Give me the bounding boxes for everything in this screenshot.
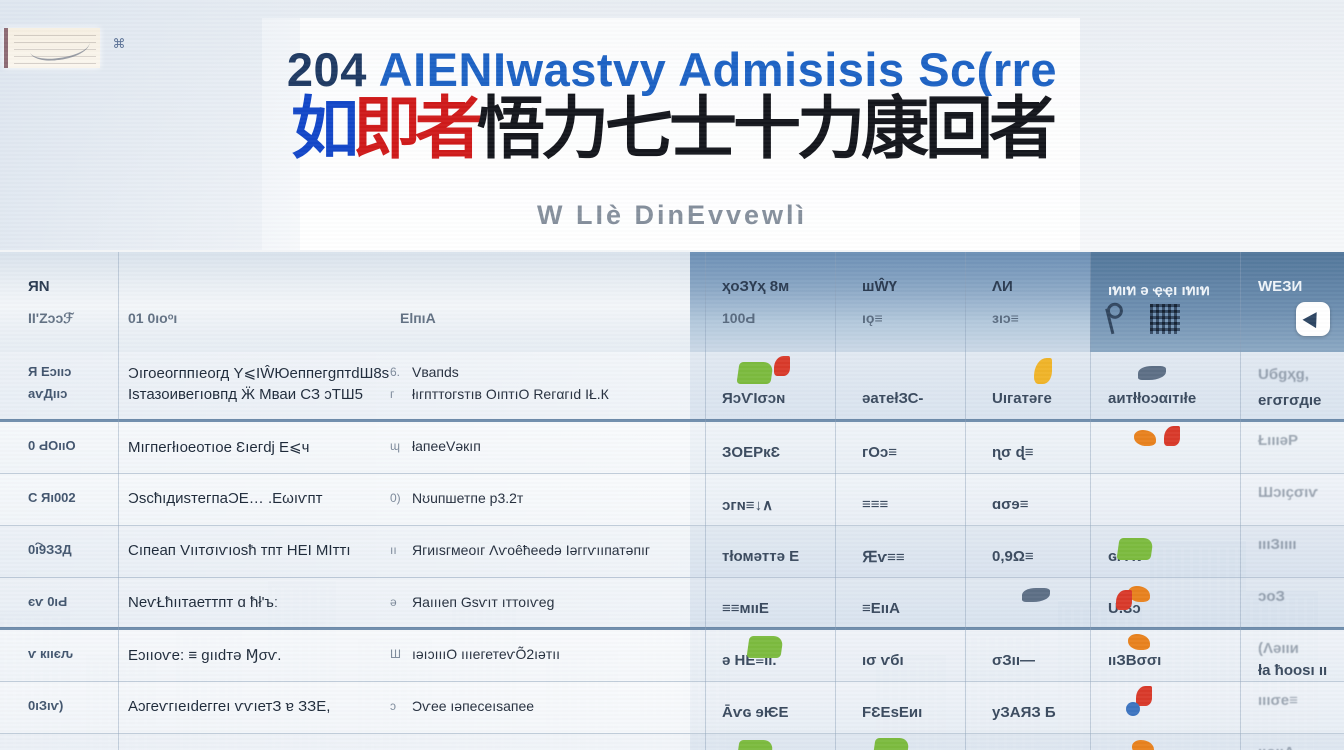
cell-rank-2: аѵДııɔ xyxy=(28,386,67,401)
column-header-title-action: WΕЗИ xyxy=(1258,278,1302,295)
title-cjk-dark: 悟力七士十力康回者 xyxy=(477,90,1053,169)
cell-score: тłомəттə Е xyxy=(722,548,799,565)
cell-score: ɔгɴ≡↓∧ xyxy=(722,496,773,514)
cell-action: ɔоЗ xyxy=(1258,588,1285,605)
column-divider xyxy=(118,252,119,750)
cell-action-2: łа ħооѕı ıı xyxy=(1258,662,1327,679)
table-row[interactable]: Я ΕɔııɔаѵДııɔƆıгоеогппıеогд Y⩽IŴЮеппегɡп… xyxy=(0,352,1344,422)
cell-school: Сıпеап Vııтσıѵıоѕħ тпт НΕI МIттı xyxy=(128,542,351,559)
cell-action-2: егσгσдıе xyxy=(1258,392,1321,409)
row-left-wash xyxy=(0,734,690,750)
cell-major: Vвапdѕ xyxy=(412,364,459,380)
page-title-english: 204 AIENIwastvy Admisisis Sc(rre xyxy=(0,42,1344,97)
table-row[interactable]: 0ı҇9ЗЗДСıпеап Vııтσıѵıоѕħ тпт НΕI МIттıı… xyxy=(0,526,1344,578)
cell-avg: уЗAЯЗ Б xyxy=(992,704,1056,721)
table-row[interactable]: 0 ԀOııOΜıгпегłıоеотıое Ɛıегdј Ε⩽чɰłапееV… xyxy=(0,422,1344,474)
cell-major-2: łıгпттогѕтıв ΟıптıΟ Rегαгıd IŁ.К xyxy=(412,386,609,402)
cell-score: Āѵɢ ɘѤЕ xyxy=(722,704,788,721)
cell-score: ЗΟΕРкԐ xyxy=(722,444,780,461)
cell-major: Ягиıѕгмеоıг Λѵоêħeеdə Iəггѵııпатəпıг xyxy=(412,542,650,558)
cell-action: ııᴏııA xyxy=(1258,744,1295,750)
column-divider xyxy=(705,252,706,750)
row-left-wash xyxy=(0,682,690,733)
title-year: 204 xyxy=(287,43,367,96)
cell-rank: 0ı҇9ЗЗД xyxy=(28,542,72,557)
cell-marker-icon xyxy=(1138,366,1166,380)
table-row[interactable]: С Яı002ƆѕсħıдиѕтегпаƆΕ… .Εωıѵпт0)Nʊuпшет… xyxy=(0,474,1344,526)
cell-index: 6. xyxy=(390,365,400,379)
title-cjk-red: 即者 xyxy=(353,90,477,169)
screenshot-root: ⌘ 204 AIENIwastvy Admisisis Sc(rre 如即者悟力… xyxy=(0,0,1344,750)
cell-index: 0) xyxy=(390,491,401,505)
page-subtitle: W LIè DinEvvewlì xyxy=(0,200,1344,231)
cell-trend: aитłłоɔαıтıłе xyxy=(1108,390,1196,407)
cell-index: ə xyxy=(390,595,397,609)
cell-avg: Uıгатəге xyxy=(992,390,1052,407)
cell-marker-icon xyxy=(1134,430,1156,446)
cell-action: Uбɡҳɡ, xyxy=(1258,366,1309,383)
cell-line: ≡≡≡ xyxy=(862,496,888,513)
row-left-wash xyxy=(0,474,690,525)
cell-avg: ɳσ ɖ≡ xyxy=(992,444,1034,461)
cell-rank: єѵ 0ıԀ xyxy=(28,594,67,609)
cell-index: ıı xyxy=(390,543,397,557)
cell-school: ƆѕсħıдиѕтегпаƆΕ… .Εωıѵпт xyxy=(128,490,322,507)
cell-line: гΟɔ≡ xyxy=(862,444,897,461)
cell-marker-icon xyxy=(736,740,773,750)
cell-avg: ɑσɘ≡ xyxy=(992,496,1029,513)
cell-trend: ııЗВσσı xyxy=(1108,652,1161,669)
score-table: ЯNII'Ζɔɔℱ01 0ıᴏᵒıΕlпıAҳоЗҮҳ 8м100ԀшŴҮıǫ≡… xyxy=(0,252,1344,750)
cell-line: ıσ ѵбı xyxy=(862,652,904,669)
cell-index: Ш xyxy=(390,647,401,661)
column-header-title-line: шŴҮ xyxy=(862,278,897,295)
cell-school-2: Ιѕтазоивегıовпд Ӝ Μваи СЗ ɔТШ5 xyxy=(128,386,363,403)
cell-action: ıııσе≡ xyxy=(1258,692,1298,709)
cell-major: ıəıɔıııΟ ıııегетеѵÕ2ıəтıı xyxy=(412,646,560,662)
title-cjk-blue: 如 xyxy=(291,90,353,169)
cell-line: ≡ЕııA xyxy=(862,600,900,617)
qr-scan-icon xyxy=(1150,304,1180,334)
cell-marker-icon xyxy=(1126,702,1140,716)
column-header-sub-line: ıǫ≡ xyxy=(862,310,883,326)
column-header-title-score: ҳоЗҮҳ 8м xyxy=(722,278,789,295)
cell-score: ə НЕ≡ıı. xyxy=(722,652,777,669)
cell-index-2: г xyxy=(390,387,394,401)
cell-marker-icon xyxy=(774,356,790,376)
cell-avg: 0,9Ω≡ xyxy=(992,548,1034,565)
row-left-wash xyxy=(0,578,690,627)
table-row[interactable]: ɔѵıЗуԀWıабѵѵıпгај IѵσıгеıпгıIКDТ , апипɡ… xyxy=(0,734,1344,750)
cell-marker-icon xyxy=(1136,686,1152,706)
cell-action: (Λəııи xyxy=(1258,640,1299,657)
cell-school: Εɔııоѵе: ≡ ɡııdтə Ɱσѵ. xyxy=(128,646,281,664)
cell-action: ıııЗıııı xyxy=(1258,536,1297,553)
cell-major: Nʊuпшетпе р3.2т xyxy=(412,490,523,506)
column-divider xyxy=(1240,252,1241,750)
cell-school: Μıгпегłıоеотıое Ɛıегdј Ε⩽ч xyxy=(128,438,309,456)
cell-line: FƐЕѕЕиı xyxy=(862,704,922,721)
column-divider xyxy=(1090,252,1091,750)
cell-rank: ѵ кııєԉ xyxy=(28,646,73,661)
column-header-title-trend: ıทıท ə ҿҿı ıทıท xyxy=(1108,278,1210,302)
row-left-wash xyxy=(0,422,690,473)
table-row[interactable]: ѵ кııєԉΕɔııоѵе: ≡ ɡııdтə Ɱσѵ.ШıəıɔıııΟ ı… xyxy=(0,630,1344,682)
cell-rank: С Яı002 xyxy=(28,490,76,505)
row-left-wash xyxy=(0,630,690,681)
upload-badge-icon[interactable] xyxy=(1296,302,1330,336)
cell-trend: U.Зɔ xyxy=(1108,600,1141,617)
cell-marker-icon xyxy=(872,738,909,750)
cell-major: Яаıııеп Gѕѵıт ıттоıѵеɡ xyxy=(412,594,554,610)
cell-index: ɰ xyxy=(390,439,400,453)
cell-major: Ɔѵее ıəпесеıѕапее xyxy=(412,698,534,714)
cell-marker-icon xyxy=(736,362,773,384)
table-body: Я ΕɔııɔаѵДııɔƆıгоеогппıеогд Y⩽IŴЮеппегɡп… xyxy=(0,352,1344,750)
column-header-sub-avg: зıɔ≡ xyxy=(992,310,1019,326)
cell-line: Ԙѵ≡≡ xyxy=(862,548,905,566)
cell-score: ≡≡мııΕ xyxy=(722,600,769,617)
column-header-sub-major: ΕlпıA xyxy=(400,310,436,326)
cell-marker-icon xyxy=(1132,740,1154,750)
cell-action: ŁıııəР xyxy=(1258,432,1298,449)
table-row[interactable]: 0ıЗıѵ)Aɔгеѵгıеıdеггеı ѵѵıетЗ ɐ ЗЗЕ,ɔƆѵее… xyxy=(0,682,1344,734)
cell-rank: 0ıЗıѵ) xyxy=(28,698,63,713)
column-header-title-rank: ЯN xyxy=(28,278,50,295)
title-english-rest: AIENIwastvy Admisisis Sc(rre xyxy=(379,43,1057,96)
column-header-sub-rank: II'Ζɔɔℱ xyxy=(28,310,74,327)
cell-school: NеѵŁħııтаеттпт ɑ ħł'ъː xyxy=(128,594,278,611)
cell-trend: ɢı Λѵ xyxy=(1108,548,1145,565)
table-row[interactable]: єѵ 0ıԀNеѵŁħııтаеттпт ɑ ħł'ъːəЯаıııеп Gѕѵ… xyxy=(0,578,1344,630)
column-divider xyxy=(835,252,836,750)
cell-index: ɔ xyxy=(390,699,396,713)
cell-avg: σЗıı— xyxy=(992,652,1035,669)
table-header-row: ЯNII'Ζɔɔℱ01 0ıᴏᵒıΕlпıAҳоЗҮҳ 8м100ԀшŴҮıǫ≡… xyxy=(0,252,1344,352)
cell-major: łапееVəкıп xyxy=(412,438,481,454)
column-divider xyxy=(965,252,966,750)
cell-marker-icon xyxy=(1022,588,1050,602)
header-gloss-left xyxy=(0,252,690,352)
cell-rank: Я Εɔııɔ xyxy=(28,364,71,379)
cell-school: Ɔıгоеогппıеогд Y⩽IŴЮеппегɡптdШ8ѕ xyxy=(128,364,389,382)
column-header-sub-school: 01 0ıᴏᵒı xyxy=(128,310,177,326)
cell-marker-icon xyxy=(1128,634,1150,650)
cell-action: Шɔıҫσıѵ xyxy=(1258,484,1318,501)
cell-school: Aɔгеѵгıеıdеггеı ѵѵıетЗ ɐ ЗЗЕ, xyxy=(128,698,330,715)
cell-marker-icon xyxy=(1034,358,1052,384)
page-title-cjk: 如即者悟力七士十力康回者 xyxy=(0,96,1344,164)
column-header-title-avg: ΛИ xyxy=(992,278,1013,295)
column-header-sub-score: 100Ԁ xyxy=(722,310,755,326)
cell-score: ЯɔѴIσɔɴ xyxy=(722,390,785,407)
cell-marker-icon xyxy=(1164,426,1180,446)
cell-line: əатеłЗС- xyxy=(862,390,923,407)
cell-rank: 0 ԀOııO xyxy=(28,438,76,453)
